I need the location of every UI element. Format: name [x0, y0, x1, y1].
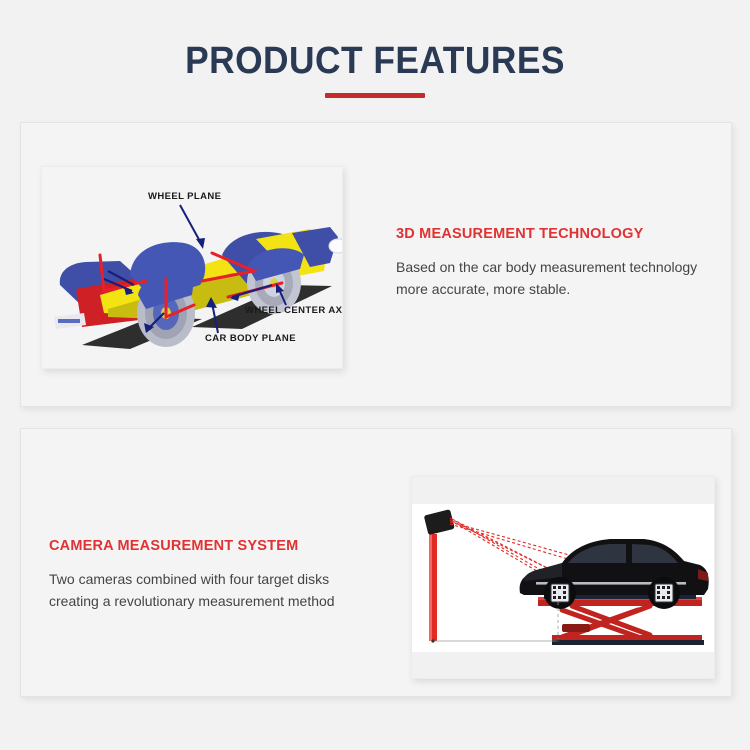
feature-text-3d-measurement: 3D MEASUREMENT TECHNOLOGY Based on the c…: [396, 227, 716, 300]
feature-heading-camera-measurement: CAMERA MEASUREMENT SYSTEM: [49, 539, 379, 555]
feature-body-camera-measurement: Two cameras combined with four target di…: [49, 569, 379, 612]
car-3d-diagram-svg: WHEEL PLANE WHEEL CENTER AXIS CAR BODY P…: [42, 167, 342, 368]
feature-card-camera-measurement[interactable]: CAMERA MEASUREMENT SYSTEM Two cameras co…: [20, 428, 732, 697]
feature-heading-3d-measurement: 3D MEASUREMENT TECHNOLOGY: [396, 227, 716, 243]
camera-alignment-diagram-svg: [412, 477, 714, 678]
svg-text:WHEEL PLANE: WHEEL PLANE: [148, 191, 221, 202]
feature-body-3d-measurement: Based on the car body measurement techno…: [396, 257, 716, 300]
feature-image-camera-measurement: [411, 476, 715, 679]
page-header: PRODUCT FEATURES: [0, 0, 750, 122]
feature-image-3d-measurement: WHEEL PLANE WHEEL CENTER AXIS CAR BODY P…: [41, 166, 343, 369]
title-underline-accent: [325, 93, 425, 98]
svg-text:CAR BODY PLANE: CAR BODY PLANE: [205, 333, 296, 344]
svg-text:WHEEL CENTER AXIS: WHEEL CENTER AXIS: [245, 305, 342, 316]
page-title: PRODUCT FEATURES: [26, 42, 724, 80]
feature-text-camera-measurement: CAMERA MEASUREMENT SYSTEM Two cameras co…: [49, 539, 379, 612]
feature-card-3d-measurement[interactable]: WHEEL PLANE WHEEL CENTER AXIS CAR BODY P…: [20, 122, 732, 407]
